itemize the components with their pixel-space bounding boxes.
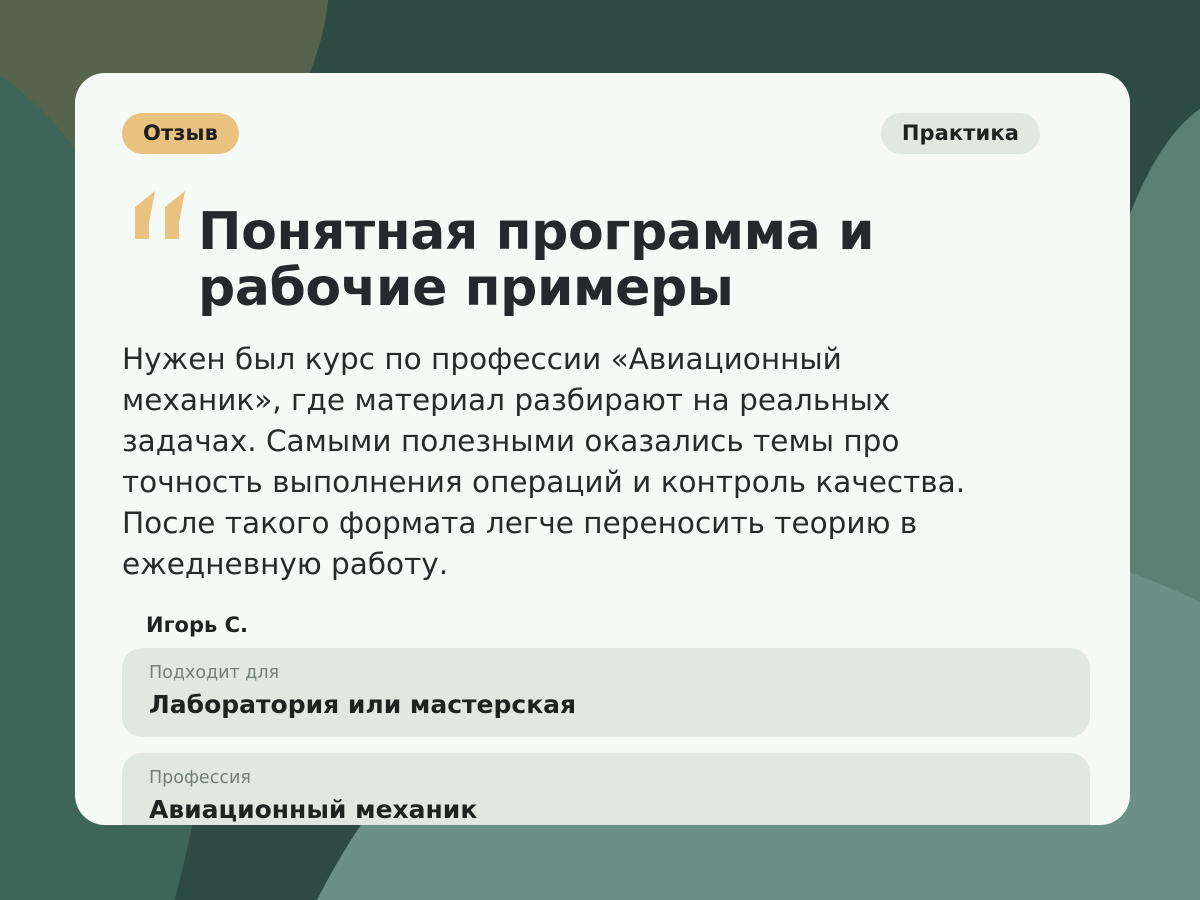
info-row-value: Авиационный механик [149,795,1063,825]
info-row-label: Подходит для [149,663,1063,684]
review-body-text: Нужен был курс по профессии «Авиационный… [122,339,977,585]
info-row-value: Лаборатория или мастерская [149,690,1063,720]
review-author-name: Игорь С. [146,613,1083,637]
page-title: Понятная программа и рабочие примеры [198,204,958,316]
review-card: Отзыв Практика Понятная программа и рабо… [75,73,1130,825]
badge-row: Отзыв Практика [122,112,1083,154]
badge-format[interactable]: Практика [881,113,1040,154]
info-row-suitable-for: Подходит для Лаборатория или мастерская [122,648,1090,737]
info-row-profession: Профессия Авиационный механик [122,753,1090,825]
info-row-list: Подходит для Лаборатория или мастерская … [122,648,1083,825]
info-row-label: Профессия [149,768,1063,789]
quote-open-icon [125,191,195,255]
badge-kind[interactable]: Отзыв [122,113,239,154]
heading-block: Понятная программа и рабочие примеры [122,204,1083,316]
